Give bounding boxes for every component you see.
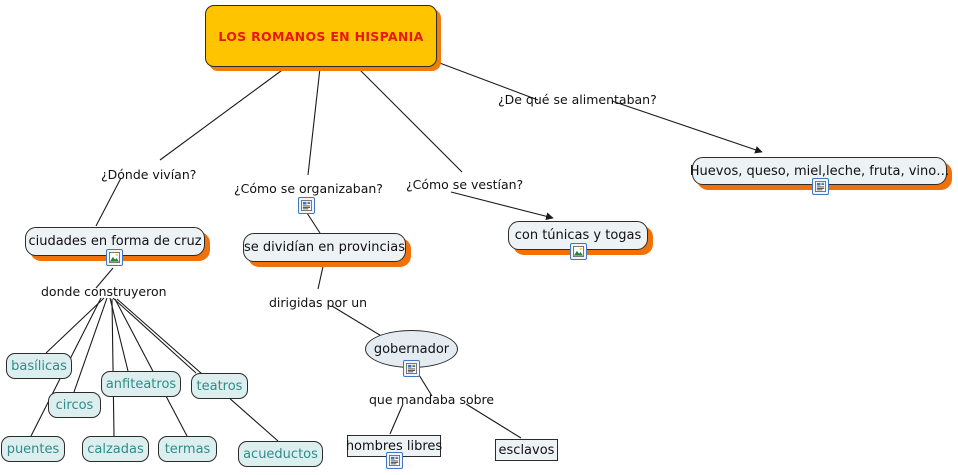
- node-puentes-label: puentes: [7, 442, 60, 457]
- node-tunicas-label: con túnicas y togas: [515, 228, 642, 243]
- edge-que-mandaba-hombres-libres: [390, 404, 403, 434]
- edge-alimentaban-huevos: [612, 101, 762, 152]
- node-calzadas[interactable]: calzadas: [82, 436, 149, 462]
- edge-root-donde-vivian: [160, 68, 285, 160]
- edge-como-vestian-tunicas: [451, 192, 553, 218]
- document-icon[interactable]: [386, 452, 403, 469]
- node-provincias-label: se dividían en provincias: [244, 240, 405, 255]
- node-ciudades-label: ciudades en forma de cruz: [28, 234, 201, 249]
- node-termas-label: termas: [165, 442, 211, 457]
- edge-construyeron-teatros: [113, 298, 196, 373]
- link-label-donde-construyeron[interactable]: donde construyeron: [41, 284, 167, 299]
- node-root[interactable]: LOS ROMANOS EN HISPANIA: [205, 5, 437, 67]
- link-label-como-se-organizaban[interactable]: ¿Cómo se organizaban?: [234, 181, 383, 196]
- node-puentes[interactable]: puentes: [1, 436, 65, 462]
- edge-root-como-organizaban: [308, 68, 320, 175]
- edge-como-organizaban-provincias: [307, 213, 320, 233]
- edge-construyeron-basilicas: [46, 298, 104, 353]
- edge-construyeron-termas: [115, 299, 187, 436]
- link-label-como-se-vestian[interactable]: ¿Cómo se vestían?: [406, 177, 523, 192]
- edge-construyeron-calzadas: [112, 299, 114, 436]
- node-esclavos[interactable]: esclavos: [495, 439, 558, 461]
- concept-map-canvas: LOS ROMANOS EN HISPANIA ciudades en form…: [0, 0, 958, 475]
- node-root-label: LOS ROMANOS EN HISPANIA: [218, 29, 423, 44]
- node-basilicas-label: basílicas: [11, 359, 67, 374]
- link-label-que-mandaba-sobre[interactable]: que mandaba sobre: [369, 392, 494, 407]
- node-teatros[interactable]: teatros: [191, 373, 248, 399]
- document-icon[interactable]: [298, 197, 315, 214]
- edge-root-como-vestian: [358, 68, 462, 172]
- node-basilicas[interactable]: basílicas: [6, 353, 72, 379]
- node-circos-label: circos: [56, 398, 94, 413]
- node-acueductos[interactable]: acueductos: [238, 441, 323, 467]
- edge-dirigidas-gobernador: [332, 306, 383, 337]
- edge-provincias-dirigidas: [318, 262, 324, 289]
- link-label-donde-vivian[interactable]: ¿Dónde vivían?: [101, 167, 196, 182]
- node-se-dividian-en-provincias[interactable]: se dividían en provincias: [243, 233, 406, 262]
- node-gobernador-label: gobernador: [374, 342, 449, 357]
- edge-que-mandaba-esclavos: [466, 404, 521, 438]
- node-circos[interactable]: circos: [48, 392, 101, 418]
- node-termas[interactable]: termas: [158, 436, 217, 462]
- node-alimentos-label: Huevos, queso, miel,leche, fruta, vino…: [690, 164, 949, 179]
- document-icon[interactable]: [812, 178, 829, 195]
- document-icon[interactable]: [403, 360, 420, 377]
- image-icon[interactable]: [106, 249, 123, 266]
- node-acueductos-label: acueductos: [243, 447, 318, 462]
- link-label-de-que-se-alimentaban[interactable]: ¿De qué se alimentaban?: [498, 92, 657, 107]
- link-label-dirigidas-por-un[interactable]: dirigidas por un: [269, 295, 367, 310]
- edge-construyeron-anfiteatros: [110, 298, 128, 371]
- image-icon[interactable]: [570, 243, 587, 260]
- node-anfiteatros-label: anfiteatros: [106, 377, 176, 392]
- node-teatros-label: teatros: [197, 379, 243, 394]
- edge-donde-vivian-ciudades: [96, 178, 121, 226]
- node-calzadas-label: calzadas: [87, 442, 144, 457]
- node-esclavos-label: esclavos: [499, 443, 555, 458]
- node-anfiteatros[interactable]: anfiteatros: [101, 371, 181, 397]
- edge-construyeron-acueductos: [117, 299, 278, 441]
